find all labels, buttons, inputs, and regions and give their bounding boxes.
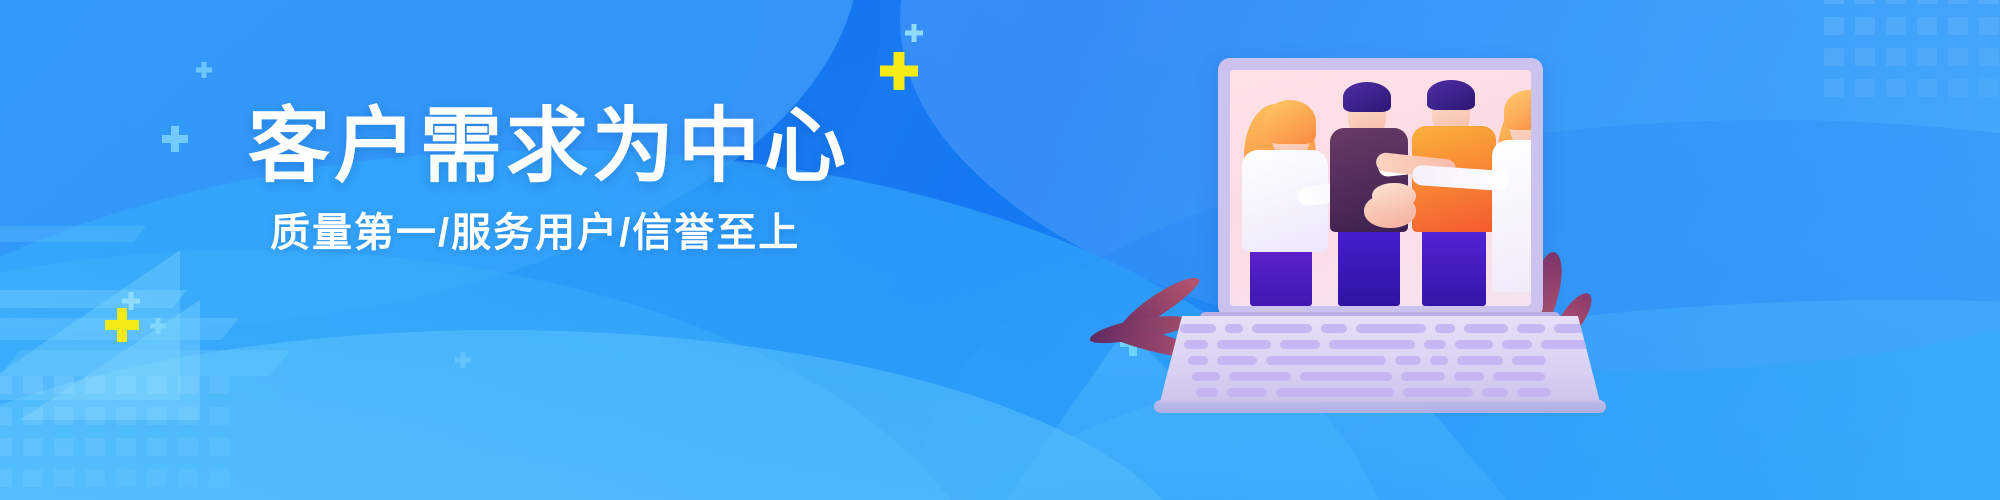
laptop-foot <box>1154 400 1606 413</box>
keyboard-key <box>1225 324 1243 333</box>
keyboard-key <box>1192 372 1220 381</box>
keyboard-key <box>1517 324 1545 333</box>
background-chevron-1 <box>0 226 146 242</box>
page-subtitle: 质量第一/服务用户/信誉至上 <box>270 209 848 257</box>
keyboard-key <box>1512 356 1546 365</box>
stacked-hands-top <box>1372 183 1416 209</box>
keyboard-key <box>1464 324 1508 333</box>
keyboard-key <box>1455 340 1493 349</box>
page-title: 客户需求为中心 <box>248 104 848 191</box>
cross-cyan-small-icon <box>905 24 923 42</box>
person-woman-left <box>1236 86 1334 306</box>
laptop-screen <box>1230 70 1531 306</box>
cross-cyan-mid-icon <box>122 292 140 310</box>
keyboard-key <box>1184 340 1208 349</box>
keyboard-key <box>1356 324 1426 333</box>
keyboard-key <box>1401 372 1445 381</box>
man-right-hair <box>1427 80 1475 110</box>
keyboard-key <box>1457 356 1503 365</box>
keyboard-key <box>1227 388 1267 397</box>
laptop-illustration <box>1160 58 1600 458</box>
keyboard-key <box>1435 324 1455 333</box>
keyboard-key <box>1517 388 1551 397</box>
cross-cyan-faint-icon <box>455 352 471 368</box>
keyboard-key <box>1541 340 1603 349</box>
background-chevron-2 <box>0 290 187 308</box>
cross-yellow-bottom-icon <box>105 308 139 342</box>
keyboard-key <box>1395 356 1421 365</box>
keyboard-key <box>1217 340 1271 349</box>
cross-white-mid-icon <box>162 126 188 152</box>
woman-right-blouse <box>1492 140 1531 292</box>
keyboard-key <box>1454 372 1484 381</box>
keyboard-key <box>1266 356 1386 365</box>
keyboard-key <box>1424 340 1446 349</box>
person-woman-right <box>1486 78 1531 306</box>
laptop-lid <box>1218 58 1543 318</box>
keyboard-key <box>1329 340 1415 349</box>
cross-white-upper-icon <box>196 62 212 78</box>
keyboard-key <box>1217 356 1257 365</box>
keyboard-key <box>1229 372 1291 381</box>
laptop-keyboard-base <box>1160 316 1600 402</box>
keyboard-key <box>1321 324 1347 333</box>
keyboard-key <box>1180 324 1216 333</box>
keyboard-key <box>1403 388 1473 397</box>
copy-block: 客户需求为中心 质量第一/服务用户/信誉至上 <box>248 104 848 257</box>
keyboard-key <box>1276 388 1394 397</box>
keyboard-key <box>1493 372 1545 381</box>
keyboard-key <box>1280 340 1320 349</box>
background-chevron-4 <box>0 350 290 376</box>
keyboard-key <box>1502 340 1532 349</box>
keyboard-key <box>1430 356 1448 365</box>
promo-banner: 客户需求为中心 质量第一/服务用户/信誉至上 <box>0 0 2000 500</box>
cross-cyan-bottom-icon <box>150 318 166 334</box>
keyboard-key <box>1188 356 1208 365</box>
keyboard-key <box>1482 388 1508 397</box>
keyboard-key <box>1252 324 1312 333</box>
cross-yellow-large-icon <box>880 52 918 90</box>
man-left-hair <box>1343 82 1391 112</box>
keyboard-key <box>1300 372 1392 381</box>
woman-right-hair-front <box>1504 90 1531 130</box>
woman-left-hair-front <box>1264 100 1316 144</box>
keyboard-key <box>1196 388 1218 397</box>
